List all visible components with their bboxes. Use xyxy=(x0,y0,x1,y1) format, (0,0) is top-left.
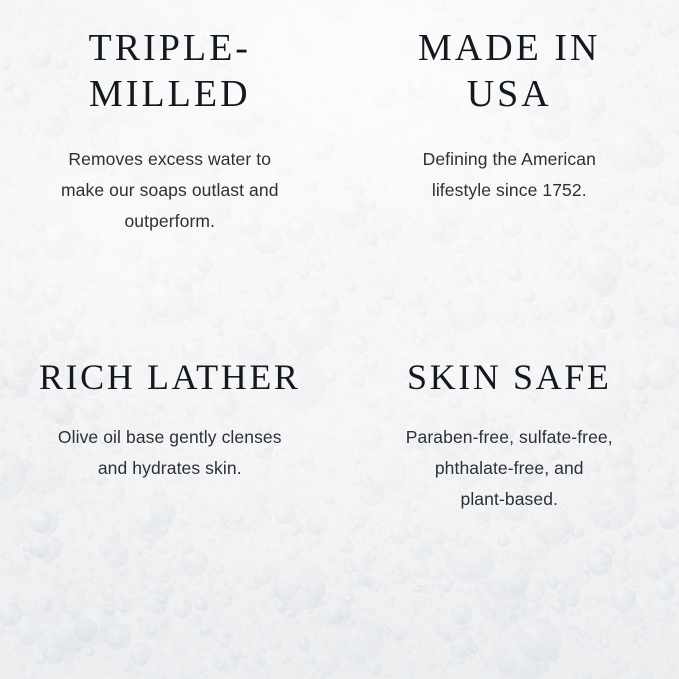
body-line: Paraben-free, sulfate-free, xyxy=(340,422,679,453)
feature-body-rich-lather: Olive oil base gently clenses and hydrat… xyxy=(0,422,340,484)
body-line: outperform. xyxy=(0,206,340,237)
feature-heading-skin-safe: SKIN SAFE xyxy=(340,356,679,400)
body-line: phthalate-free, and xyxy=(340,453,679,484)
feature-heading-triple-milled: TRIPLE- MILLED xyxy=(0,25,340,118)
feature-cell-triple-milled: TRIPLE- MILLED Removes excess water to m… xyxy=(0,0,340,372)
feature-cell-made-in-usa: MADE IN USA Defining the American lifest… xyxy=(340,0,679,372)
body-line: and hydrates skin. xyxy=(0,453,340,484)
body-line: lifestyle since 1752. xyxy=(340,175,679,206)
heading-line: SKIN SAFE xyxy=(340,356,679,400)
heading-line: TRIPLE- xyxy=(0,25,340,71)
feature-cell-rich-lather: RICH LATHER Olive oil base gently clense… xyxy=(0,372,340,679)
body-line: make our soaps outlast and xyxy=(0,175,340,206)
body-line: Removes excess water to xyxy=(0,144,340,175)
body-line: plant-based. xyxy=(340,484,679,515)
feature-heading-rich-lather: RICH LATHER xyxy=(0,356,340,400)
heading-line: MILLED xyxy=(0,71,340,117)
feature-grid: TRIPLE- MILLED Removes excess water to m… xyxy=(0,0,679,679)
body-line: Defining the American xyxy=(340,144,679,175)
body-line: Olive oil base gently clenses xyxy=(0,422,340,453)
heading-line: USA xyxy=(340,71,679,117)
feature-body-made-in-usa: Defining the American lifestyle since 17… xyxy=(340,144,679,206)
feature-body-triple-milled: Removes excess water to make our soaps o… xyxy=(0,144,340,237)
feature-heading-made-in-usa: MADE IN USA xyxy=(340,25,679,118)
feature-body-skin-safe: Paraben-free, sulfate-free, phthalate-fr… xyxy=(340,422,679,515)
feature-cell-skin-safe: SKIN SAFE Paraben-free, sulfate-free, ph… xyxy=(340,372,679,679)
feature-grid-graphic: TRIPLE- MILLED Removes excess water to m… xyxy=(0,0,679,679)
heading-line: RICH LATHER xyxy=(0,356,340,400)
heading-line: MADE IN xyxy=(340,25,679,71)
